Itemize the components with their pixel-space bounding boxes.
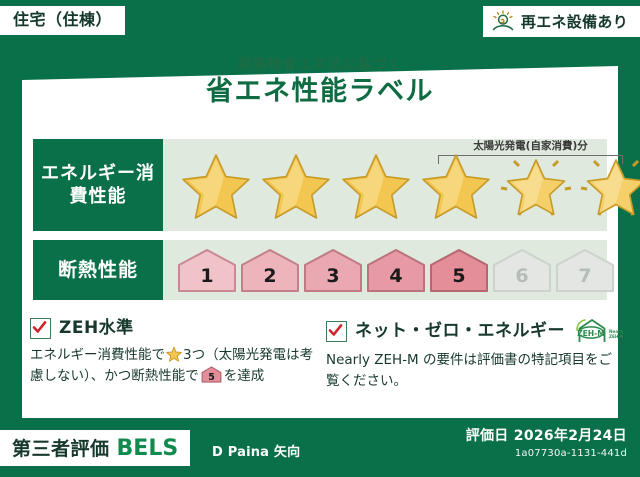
energy-consumption-label-text: エネルギー消費性能 bbox=[33, 162, 163, 208]
sun-icon bbox=[491, 10, 515, 32]
footer-bar: 第三者評価 BELS D Paina 矢向 評価日 2026年2月24日 1a0… bbox=[0, 420, 640, 477]
insulation-level-list: 1 2 3 4 5 bbox=[163, 247, 615, 293]
third-party-eval-label: 第三者評価 bbox=[12, 434, 110, 461]
check-icon bbox=[30, 318, 51, 339]
insulation-level-number: 1 bbox=[200, 267, 213, 293]
insulation-level-7: 7 bbox=[555, 247, 615, 293]
zeh-standard-description: エネルギー消費性能で3つ（太陽光発電は考慮しない）、かつ断熱性能で5を達成 bbox=[30, 345, 316, 387]
svg-text:ZEH-M: ZEH-M bbox=[577, 329, 605, 338]
star-sparkle-solar bbox=[497, 148, 575, 222]
evaluation-date-label: 評価日 bbox=[466, 428, 509, 444]
renewable-energy-chip: 再エネ設備あり bbox=[483, 6, 640, 37]
insulation-level-2: 2 bbox=[240, 247, 300, 293]
energy-consumption-label: エネルギー消費性能 bbox=[33, 139, 163, 231]
insulation-level-3: 3 bbox=[303, 247, 363, 293]
zeh-standard-block: ZEH水準 エネルギー消費性能で3つ（太陽光発電は考慮しない）、かつ断熱性能で5… bbox=[30, 318, 316, 387]
zeh-m-logo: ZEH-M Nearly ZEH-M bbox=[575, 318, 623, 344]
star-icon bbox=[166, 346, 182, 362]
evaluation-date: 評価日 2026年2月24日 bbox=[466, 428, 627, 445]
bels-label: BELS bbox=[117, 436, 179, 461]
insulation-level-number: 7 bbox=[578, 267, 591, 293]
svg-text:ZEH-M: ZEH-M bbox=[609, 334, 623, 339]
zeh-standard-title: ZEH水準 bbox=[59, 320, 134, 337]
zeh-standard-header: ZEH水準 bbox=[30, 318, 316, 339]
building-type-chip: 住宅（住棟） bbox=[0, 6, 125, 35]
star-filled bbox=[417, 148, 495, 222]
zeh-desc-part1: エネルギー消費性能で bbox=[30, 347, 165, 363]
property-name: D Paina 矢向 bbox=[212, 441, 300, 460]
zeh-desc-part3: を達成 bbox=[224, 368, 265, 384]
star-filled bbox=[177, 148, 255, 222]
evaluation-date-value: 2026年2月24日 bbox=[514, 428, 627, 444]
energy-consumption-rating: 太陽光発電(自家消費)分 bbox=[163, 139, 640, 231]
net-zero-energy-title: ネット・ゼロ・エネルギー bbox=[355, 323, 565, 340]
insulation-rating: 1 2 3 4 5 bbox=[163, 240, 615, 300]
insulation-level-number: 5 bbox=[452, 267, 465, 293]
net-zero-energy-description: Nearly ZEH-M の要件は評価書の特記項目をご覧ください。 bbox=[326, 350, 612, 392]
energy-performance-label: 住宅（住棟） 再エネ設備あり 建築物省エネ法に基づく 省エネ性能ラベル エネルギ… bbox=[0, 0, 640, 477]
net-zero-energy-block: ネット・ゼロ・エネルギー ZEH-M Nearly ZEH-M Nearly Z… bbox=[326, 318, 612, 392]
building-type-label: 住宅（住棟） bbox=[13, 10, 112, 29]
insulation-level-6: 6 bbox=[492, 247, 552, 293]
insulation-level-1: 1 bbox=[177, 247, 237, 293]
insulation-level-number: 2 bbox=[263, 267, 276, 293]
renewable-energy-label: 再エネ設備あり bbox=[521, 11, 628, 32]
insulation-row: 断熱性能 1 2 3 4 bbox=[33, 240, 607, 300]
insulation-level-5: 5 bbox=[429, 247, 489, 293]
house-level-5-icon: 5 bbox=[201, 366, 222, 383]
star-rating bbox=[163, 148, 640, 222]
svg-text:5: 5 bbox=[208, 372, 215, 383]
energy-consumption-row: エネルギー消費性能 太陽光発電(自家消費)分 bbox=[33, 139, 607, 231]
check-icon bbox=[326, 321, 347, 342]
insulation-level-number: 4 bbox=[389, 267, 402, 293]
evaluation-info: 評価日 2026年2月24日 1a07730a-1131-441d bbox=[466, 428, 627, 459]
star-sparkle-solar bbox=[577, 148, 640, 222]
bels-certification-chip: 第三者評価 BELS bbox=[0, 430, 190, 466]
star-filled bbox=[257, 148, 335, 222]
insulation-level-number: 3 bbox=[326, 267, 339, 293]
document-id: 1a07730a-1131-441d bbox=[466, 448, 627, 459]
insulation-level-4: 4 bbox=[366, 247, 426, 293]
insulation-label: 断熱性能 bbox=[33, 240, 163, 300]
star-filled bbox=[337, 148, 415, 222]
net-zero-energy-header: ネット・ゼロ・エネルギー ZEH-M Nearly ZEH-M bbox=[326, 318, 612, 344]
insulation-level-number: 6 bbox=[515, 267, 528, 293]
insulation-label-text: 断熱性能 bbox=[58, 258, 138, 282]
